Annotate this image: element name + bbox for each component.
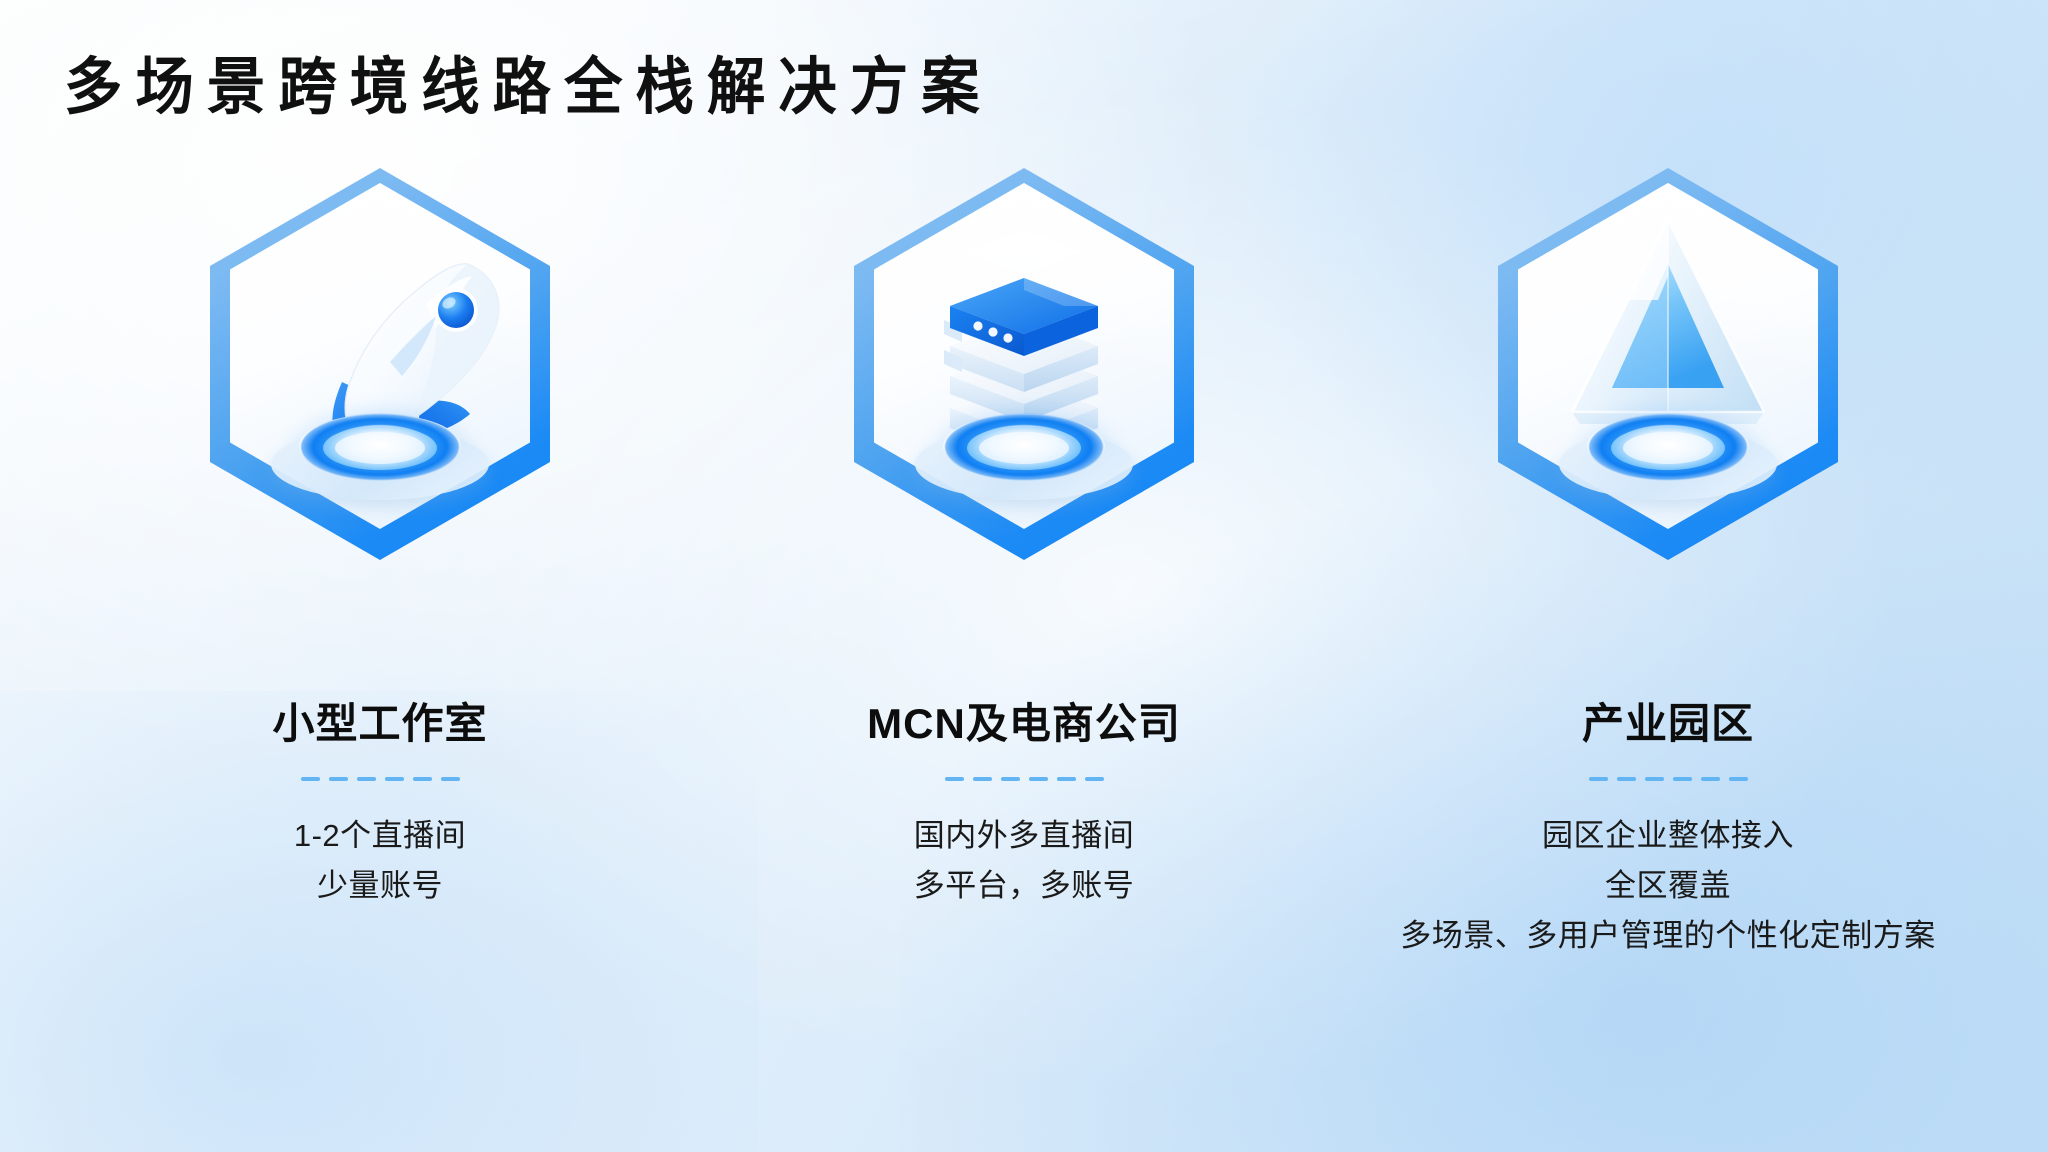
card-description-line: 国内外多直播间: [914, 811, 1135, 861]
card-description-line: 少量账号: [294, 861, 466, 911]
divider-dash: [1589, 777, 1608, 781]
card-divider: [301, 777, 460, 781]
card-description-line: 多场景、多用户管理的个性化定制方案: [1400, 911, 1936, 961]
divider-dash: [1701, 777, 1720, 781]
divider-dash: [1057, 777, 1076, 781]
divider-dash: [945, 777, 964, 781]
scenario-card-small-studio[interactable]: 小型工作室 1-2个直播间 少量账号: [100, 168, 660, 1068]
card-description: 园区企业整体接入 全区覆盖 多场景、多用户管理的个性化定制方案: [1400, 811, 1936, 962]
card-divider: [1589, 777, 1748, 781]
card-title: MCN及电商公司: [867, 690, 1181, 751]
divider-dash: [1617, 777, 1636, 781]
divider-dash: [301, 777, 320, 781]
card-description-line: 园区企业整体接入: [1400, 811, 1936, 861]
scenario-card-group: 小型工作室 1-2个直播间 少量账号: [0, 168, 2048, 1068]
rocket-icon: [230, 186, 530, 526]
divider-dash: [973, 777, 992, 781]
card-description: 国内外多直播间 多平台，多账号: [914, 811, 1135, 911]
divider-dash: [1029, 777, 1048, 781]
divider-dash: [1645, 777, 1664, 781]
divider-dash: [329, 777, 348, 781]
divider-dash: [441, 777, 460, 781]
divider-dash: [413, 777, 432, 781]
scenario-card-industrial-park[interactable]: 产业园区 园区企业整体接入 全区覆盖 多场景、多用户管理的个性化定制方案: [1388, 168, 1948, 1068]
divider-dash: [357, 777, 376, 781]
divider-dash: [1729, 777, 1748, 781]
server-stack-icon: [874, 186, 1174, 526]
divider-dash: [1085, 777, 1104, 781]
card-description-line: 全区覆盖: [1400, 861, 1936, 911]
scenario-card-mcn-ecommerce[interactable]: MCN及电商公司 国内外多直播间 多平台，多账号: [744, 168, 1304, 1068]
card-title: 小型工作室: [272, 690, 487, 751]
divider-dash: [1673, 777, 1692, 781]
divider-dash: [1001, 777, 1020, 781]
hexagon-badge: [824, 168, 1224, 616]
card-description-line: 1-2个直播间: [294, 811, 466, 861]
hexagon-badge: [1468, 168, 1868, 616]
pyramid-icon: [1518, 186, 1818, 526]
card-title: 产业园区: [1582, 690, 1754, 751]
page-title: 多场景跨境线路全栈解决方案: [64, 52, 993, 123]
card-description: 1-2个直播间 少量账号: [294, 811, 466, 911]
hexagon-badge: [180, 168, 580, 616]
card-description-line: 多平台，多账号: [914, 861, 1135, 911]
divider-dash: [385, 777, 404, 781]
card-divider: [945, 777, 1104, 781]
